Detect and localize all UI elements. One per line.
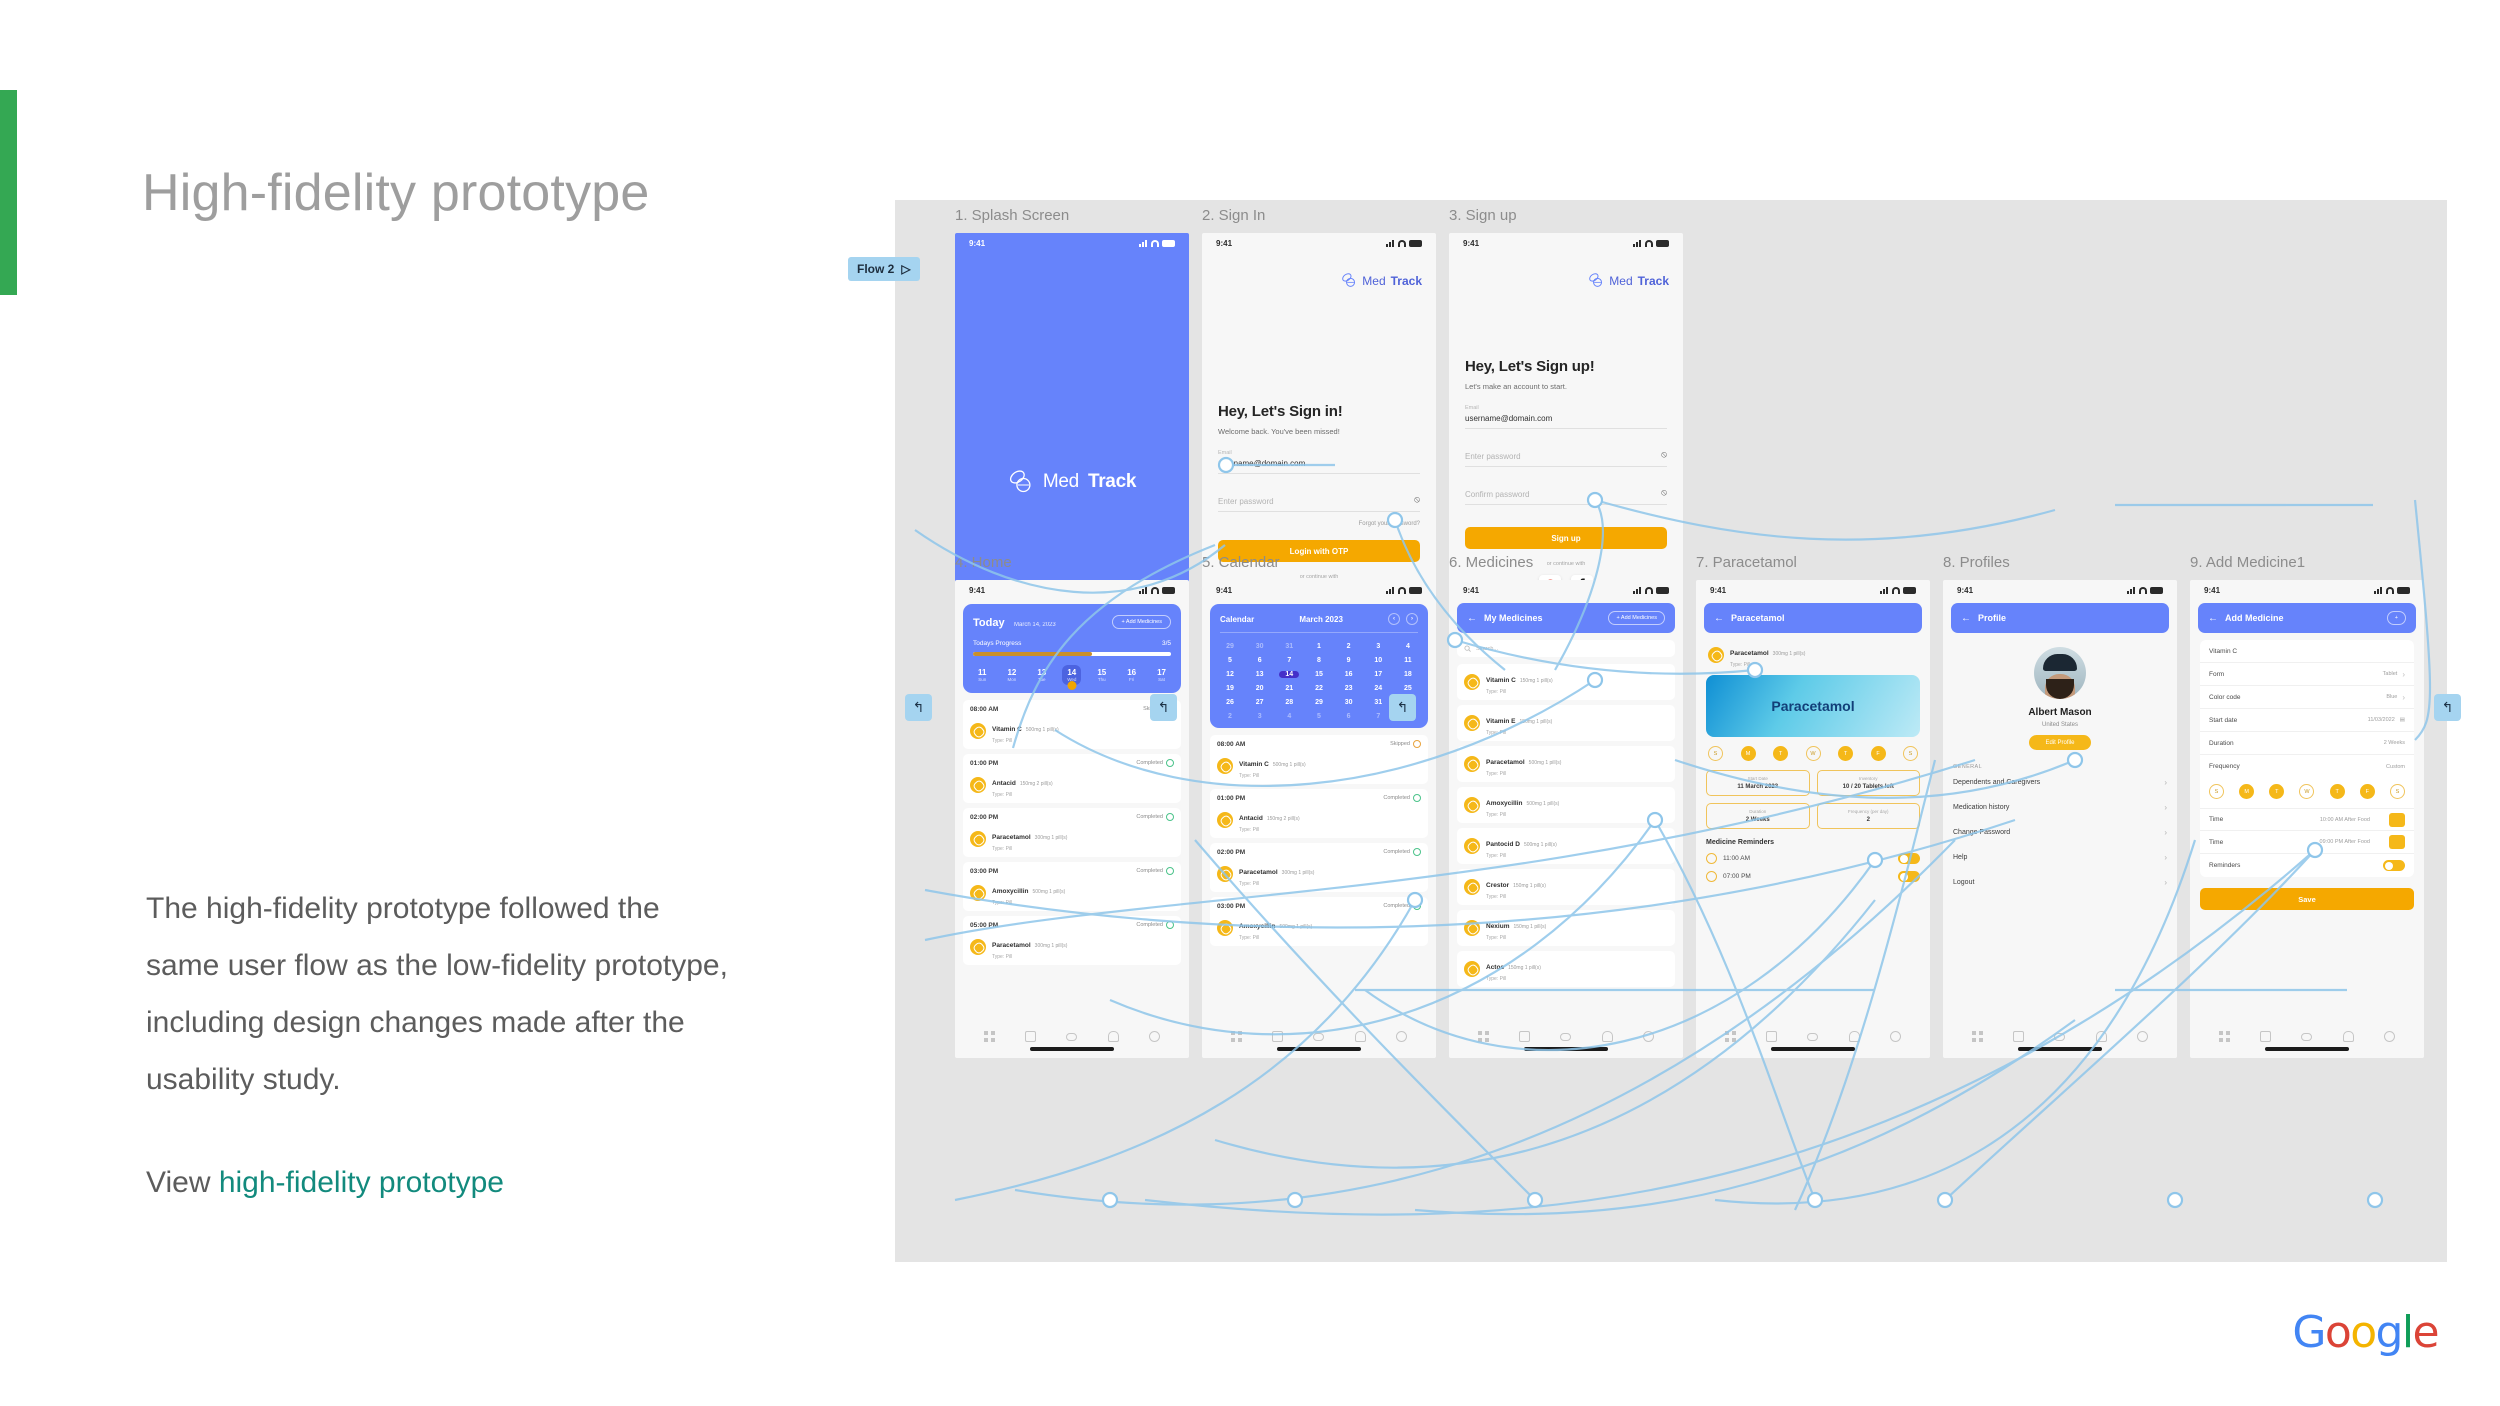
- med-type: Type: Pill: [992, 900, 1065, 906]
- list-item[interactable]: Nexium150mg 1 pill(s)Type: Pill: [1457, 910, 1675, 946]
- view-prefix: View: [146, 1166, 219, 1199]
- tab-profile-icon[interactable]: [2384, 1031, 2395, 1042]
- email-field[interactable]: Email username@domain.com: [1465, 405, 1667, 429]
- status-text: Completed: [1383, 849, 1410, 855]
- weekday-chip[interactable]: M: [1741, 746, 1756, 761]
- header-title: My Medicines: [1484, 613, 1543, 623]
- day-number: 13: [1037, 668, 1046, 677]
- signal-icon: [1880, 587, 1889, 594]
- med-name: Paracetamol: [992, 942, 1031, 949]
- calendar-day[interactable]: 21: [1279, 685, 1299, 692]
- tab-home-icon[interactable]: [1478, 1031, 1489, 1042]
- view-prototype-line: View high-fidelity prototype: [146, 1166, 504, 1200]
- calendar-day-selected[interactable]: 14: [1279, 671, 1299, 678]
- weekday-chip[interactable]: T: [2269, 784, 2284, 799]
- pill-icon: [970, 885, 986, 901]
- signal-icon: [1386, 587, 1395, 594]
- med-dose: 150mg 1 pill(s): [1508, 965, 1541, 971]
- status-icons: [1386, 587, 1422, 594]
- calendar-day[interactable]: 13: [1250, 671, 1270, 678]
- status-dot-icon: [1166, 867, 1174, 875]
- field-frequency[interactable]: FrequencyCustom: [2200, 755, 2414, 778]
- day-weekday: Fri: [1127, 677, 1136, 682]
- bottom-tab-bar[interactable]: [2190, 1031, 2424, 1042]
- auth-form[interactable]: Hey, Let's Sign up! Let's make an accoun…: [1465, 358, 1667, 613]
- signal-icon: [1386, 240, 1395, 247]
- forgot-password-link[interactable]: Forgot your password?: [1218, 521, 1420, 527]
- phone-frame[interactable]: 9:41 Today March 14, 2023: [955, 580, 1189, 1058]
- tab-profile-icon[interactable]: [1643, 1031, 1654, 1042]
- phone-frame[interactable]: 9:41 ← Add Medicine + Vitamin C: [2190, 580, 2424, 1058]
- status-icons: [2374, 587, 2410, 594]
- pill-icon: [970, 939, 986, 955]
- med-type: Type: Pill: [1239, 827, 1300, 833]
- back-arrow-badge-right[interactable]: ↰: [2434, 694, 2461, 721]
- high-fidelity-prototype-link[interactable]: high-fidelity prototype: [219, 1166, 504, 1199]
- wifi-icon: [1151, 587, 1159, 594]
- calendar-day[interactable]: 20: [1250, 685, 1270, 692]
- day-weekday: Tue: [1037, 677, 1046, 682]
- medication-schedule-list[interactable]: 08:00 AMSkipped Vitamin C500mg 1 pill(s)…: [1210, 735, 1428, 946]
- battery-icon: [1656, 587, 1669, 594]
- tab-home-icon[interactable]: [1725, 1031, 1736, 1042]
- menu-item-help[interactable]: Help›: [1953, 845, 2167, 870]
- day-cell-selected[interactable]: 14Wed: [1062, 665, 1081, 685]
- menu-item-logout[interactable]: Logout›: [1953, 870, 2167, 895]
- reminder-time: 07:00 PM: [1723, 873, 1751, 880]
- avatar: [2034, 647, 2086, 699]
- reminder-row[interactable]: 11:00 AM: [1706, 853, 1920, 864]
- tab-reminders-icon[interactable]: [1849, 1031, 1860, 1042]
- week-day-strip[interactable]: 11Sun 12Mon 13Tue 14Wed 15Thu 16Fri 17Sa…: [973, 665, 1171, 685]
- email-value[interactable]: username@domain.com: [1218, 456, 1420, 473]
- add-button[interactable]: +: [2387, 611, 2406, 625]
- status-badge: Completed: [1383, 848, 1421, 856]
- calendar-day[interactable]: 5: [1309, 713, 1329, 720]
- list-item[interactable]: 01:00 PMCompleted Antacid150mg 2 pill(s)…: [1210, 789, 1428, 838]
- weekday-chip[interactable]: S: [1708, 746, 1723, 761]
- back-icon[interactable]: ←: [1961, 613, 1971, 624]
- day-weekday: Sun: [978, 677, 986, 682]
- field-value: 2 Weeks: [2384, 740, 2405, 746]
- status-badge: Completed: [1383, 902, 1421, 910]
- med-type: Type: Pill: [1239, 881, 1314, 887]
- calendar-day[interactable]: 1: [1309, 643, 1329, 650]
- weekday-chip[interactable]: F: [2360, 784, 2375, 799]
- list-item[interactable]: 02:00 PMCompleted Paracetamol300mg 1 pil…: [963, 808, 1181, 857]
- calendar-day[interactable]: 15: [1309, 671, 1329, 678]
- medication-schedule-list[interactable]: 08:00 AMSkipped Vitamin C500mg 1 pill(s)…: [963, 700, 1181, 965]
- list-item[interactable]: Pantocid D500mg 1 pill(s)Type: Pill: [1457, 828, 1675, 864]
- bottom-tab-bar[interactable]: [1696, 1031, 1930, 1042]
- weekday-chip[interactable]: W: [1806, 746, 1821, 761]
- calendar-day[interactable]: 9: [1339, 657, 1359, 664]
- tab-medicines-icon[interactable]: [1560, 1033, 1571, 1041]
- status-dot-icon: [1166, 813, 1174, 821]
- tab-medicines-icon[interactable]: [2054, 1033, 2065, 1041]
- bottom-tab-bar[interactable]: [1943, 1031, 2177, 1042]
- info-key: Duration: [1711, 809, 1805, 814]
- calendar-icon[interactable]: ▤: [2400, 717, 2405, 723]
- calendar-header: Calendar March 2023 ‹ ›: [1220, 613, 1418, 633]
- med-name: Paracetamol: [1730, 650, 1769, 657]
- add-medicine-form[interactable]: Vitamin C FormTablet› Color codeBlue› St…: [2200, 640, 2414, 877]
- med-dose: 500mg 1 pill(s): [1526, 801, 1559, 807]
- calendar-week-row: 567891011: [1220, 657, 1418, 664]
- calendar-day[interactable]: 19: [1220, 685, 1240, 692]
- google-letter-o1: o: [2325, 1307, 2350, 1358]
- list-item[interactable]: 08:00 AMSkipped Vitamin C500mg 1 pill(s)…: [1210, 735, 1428, 784]
- med-dose: 300mg 1 pill(s): [1282, 870, 1315, 876]
- calendar-day[interactable]: 25: [1398, 685, 1418, 692]
- status-icons: [1386, 240, 1422, 247]
- eye-off-icon[interactable]: ⦸: [1661, 487, 1667, 498]
- clock-icon[interactable]: [2375, 838, 2384, 847]
- tab-calendar-icon[interactable]: [2013, 1031, 2024, 1042]
- calendar-day[interactable]: 16: [1339, 671, 1359, 678]
- tab-home-icon[interactable]: [2219, 1031, 2230, 1042]
- logo-track: Track: [1638, 274, 1669, 288]
- screen-medicines[interactable]: 6. Medicines 9:41 ← My Medicines + Add: [1449, 580, 1683, 1058]
- screen-label: 6. Medicines: [1449, 554, 1533, 571]
- password-field[interactable]: Enter password ⦸: [1218, 488, 1420, 512]
- list-item[interactable]: 05:00 PMCompleted Paracetamol300mg 1 pil…: [963, 916, 1181, 965]
- med-name: Antacid: [992, 780, 1016, 787]
- confirm-password-placeholder[interactable]: Confirm password: [1465, 481, 1667, 504]
- bottom-tab-bar[interactable]: [1449, 1031, 1683, 1042]
- weekday-chip[interactable]: F: [1871, 746, 1886, 761]
- list-item[interactable]: Paracetamol500mg 1 pill(s)Type: Pill: [1457, 746, 1675, 782]
- home-indicator: [1524, 1047, 1608, 1051]
- phone-frame[interactable]: 9:41 ← My Medicines + Add Medicines: [1449, 580, 1683, 1058]
- search-placeholder: Search...: [1476, 646, 1498, 652]
- tab-profile-icon[interactable]: [1890, 1031, 1901, 1042]
- calendar-day[interactable]: 5: [1220, 657, 1240, 664]
- field-time-1[interactable]: Time10:00 AM After Food: [2200, 808, 2414, 831]
- field-time-2[interactable]: Time09:00 PM After Food: [2200, 831, 2414, 854]
- screen-paracetamol-detail[interactable]: 7. Paracetamol 9:41 ← Paracetamol: [1696, 580, 1930, 1058]
- back-arrow-badge-2[interactable]: ↰: [1150, 694, 1177, 721]
- google-logo: Google: [2292, 1307, 2438, 1358]
- day-cell[interactable]: 16Fri: [1122, 665, 1141, 685]
- pill-icon: [1464, 961, 1480, 977]
- weekday-chip[interactable]: M: [2239, 784, 2254, 799]
- screen-calendar[interactable]: 5. Calendar 9:41 Calendar March 20: [1202, 580, 1436, 1058]
- info-box: Duration2 Weeks: [1706, 803, 1810, 829]
- med-name: Vitamin E: [1486, 718, 1516, 725]
- calendar-day[interactable]: 30: [1250, 643, 1270, 650]
- status-dot-icon: [1166, 921, 1174, 929]
- tab-calendar-icon[interactable]: [1025, 1031, 1036, 1042]
- med-name: Amoxycillin: [992, 888, 1028, 895]
- password-placeholder[interactable]: Enter password: [1218, 488, 1420, 511]
- calendar-day[interactable]: 30: [1339, 699, 1359, 706]
- back-icon[interactable]: ←: [1467, 613, 1477, 624]
- calendar-nav[interactable]: ‹ ›: [1388, 613, 1418, 625]
- status-text: Completed: [1136, 814, 1163, 820]
- status-bar: 9:41: [1449, 580, 1683, 600]
- home-indicator: [1771, 1047, 1855, 1051]
- email-field[interactable]: Email username@domain.com: [1218, 450, 1420, 474]
- eye-off-icon[interactable]: ⦸: [1661, 449, 1667, 460]
- day-cell[interactable]: 12Mon: [1002, 665, 1021, 685]
- tab-home-icon[interactable]: [984, 1031, 995, 1042]
- tab-home-icon[interactable]: [1231, 1031, 1242, 1042]
- list-item[interactable]: Crestor150mg 1 pill(s)Type: Pill: [1457, 869, 1675, 905]
- status-bar: 9:41: [2190, 580, 2424, 600]
- list-item[interactable]: 02:00 PMCompleted Paracetamol300mg 1 pil…: [1210, 843, 1428, 892]
- calendar-day[interactable]: 27: [1250, 699, 1270, 706]
- day-cell[interactable]: 17Sat: [1152, 665, 1171, 685]
- med-type: Type: Pill: [992, 738, 1059, 744]
- reminder-toggle[interactable]: [1898, 853, 1920, 864]
- calendar-day[interactable]: 6: [1339, 713, 1359, 720]
- med-name: Amoxycillin: [1239, 923, 1275, 930]
- field-start-date[interactable]: Start date11/03/2022▤: [2200, 709, 2414, 732]
- field-label: Time: [2209, 816, 2223, 823]
- weekday-chip[interactable]: S: [1903, 746, 1918, 761]
- password-placeholder[interactable]: Enter password: [1465, 443, 1667, 466]
- wifi-icon: [1398, 587, 1406, 594]
- confirm-password-field[interactable]: Confirm password ⦸: [1465, 481, 1667, 505]
- save-button[interactable]: Save: [2200, 888, 2414, 910]
- status-bar: 9:41: [1202, 580, 1436, 600]
- calendar-day[interactable]: 26: [1220, 699, 1240, 706]
- today-date: March 14, 2023: [1014, 622, 1056, 628]
- list-item[interactable]: 08:00 AMSkipped Vitamin C500mg 1 pill(s)…: [963, 700, 1181, 749]
- medicines-list[interactable]: Vitamin C150mg 1 pill(s)Type: Pill Vitam…: [1457, 664, 1675, 987]
- status-time: 9:41: [1957, 586, 1973, 595]
- bottom-tab-bar[interactable]: [955, 1031, 1189, 1042]
- wifi-icon: [1645, 587, 1653, 594]
- edit-profile-button[interactable]: Edit Profile: [2029, 735, 2091, 750]
- home-indicator: [2018, 1047, 2102, 1051]
- pill-icon: [970, 723, 986, 739]
- med-dose: 150mg 1 pill(s): [1513, 883, 1546, 889]
- med-type: Type: Pill: [1486, 812, 1559, 818]
- calendar-day[interactable]: 18: [1398, 671, 1418, 678]
- pill-icon: [1217, 866, 1233, 882]
- calendar-day[interactable]: 2: [1339, 643, 1359, 650]
- field-color-code[interactable]: Color codeBlue›: [2200, 686, 2414, 709]
- pill-icon: [1464, 715, 1480, 731]
- tab-home-icon[interactable]: [1972, 1031, 1983, 1042]
- field-reminders[interactable]: Reminders: [2200, 854, 2414, 877]
- info-value: 2 Weeks: [1711, 817, 1805, 823]
- tab-reminders-icon[interactable]: [2096, 1031, 2107, 1042]
- weekday-chip[interactable]: T: [1838, 746, 1853, 761]
- menu-label: Change Password: [1953, 829, 2010, 836]
- pill-icon: [1217, 812, 1233, 828]
- tab-calendar-icon[interactable]: [2260, 1031, 2271, 1042]
- day-cell[interactable]: 13Tue: [1032, 665, 1051, 685]
- med-name: Paracetamol: [1239, 869, 1278, 876]
- tab-reminders-icon[interactable]: [1602, 1031, 1613, 1042]
- calendar-day[interactable]: 3: [1368, 643, 1388, 650]
- pill-logo-icon: [1008, 470, 1034, 494]
- tab-reminders-icon[interactable]: [1108, 1031, 1119, 1042]
- tab-medicines-icon[interactable]: [1313, 1033, 1324, 1041]
- weekday-selector[interactable]: S M T W T F S: [1708, 746, 1918, 761]
- back-arrow-badge-3[interactable]: ↰: [1389, 694, 1416, 721]
- field-duration[interactable]: Duration2 Weeks: [2200, 732, 2414, 755]
- day-cell[interactable]: 15Thu: [1092, 665, 1111, 685]
- pill-icon: [1464, 920, 1480, 936]
- next-month-icon[interactable]: ›: [1406, 613, 1418, 625]
- tab-profile-icon[interactable]: [1149, 1031, 1160, 1042]
- screen-add-medicine[interactable]: 9. Add Medicine1 9:41 ← Add Medicine +: [2190, 580, 2424, 1058]
- edit-time-button[interactable]: [2389, 835, 2405, 849]
- weekday-chip[interactable]: S: [2209, 784, 2224, 799]
- bottom-tab-bar[interactable]: [1202, 1031, 1436, 1042]
- calendar-day[interactable]: 23: [1339, 685, 1359, 692]
- calendar-day[interactable]: 2: [1220, 713, 1240, 720]
- field-name[interactable]: Vitamin C: [2200, 640, 2414, 663]
- field-value: 09:00 PM After Food: [2320, 839, 2370, 845]
- flow-2-badge[interactable]: Flow 2 ▷: [848, 257, 920, 281]
- info-value: 11 March 2023: [1711, 784, 1805, 790]
- calendar-day[interactable]: 12: [1220, 671, 1240, 678]
- list-item[interactable]: Vitamin E150mg 1 pill(s)Type: Pill: [1457, 705, 1675, 741]
- tab-profile-icon[interactable]: [1396, 1031, 1407, 1042]
- tab-medicines-icon[interactable]: [2301, 1033, 2312, 1041]
- tab-calendar-icon[interactable]: [1766, 1031, 1777, 1042]
- chevron-right-icon: ›: [2402, 670, 2405, 679]
- list-item[interactable]: 01:00 PMCompleted Antacid150mg 2 pill(s)…: [963, 754, 1181, 803]
- menu-label: Medication history: [1953, 804, 2009, 811]
- weekday-chip[interactable]: T: [2330, 784, 2345, 799]
- list-item[interactable]: 03:00 PMCompleted Amoxycillin500mg 1 pil…: [963, 862, 1181, 911]
- list-item[interactable]: Actos150mg 1 pill(s)Type: Pill: [1457, 951, 1675, 987]
- reminder-row[interactable]: 07:00 PM: [1706, 871, 1920, 882]
- phone-frame[interactable]: 9:41 Calendar March 2023 ‹: [1202, 580, 1436, 1058]
- google-letter-l: l: [2402, 1307, 2413, 1358]
- flow-2-label: Flow 2: [857, 262, 894, 276]
- weekday-selector[interactable]: S M T W T F S: [2200, 778, 2414, 808]
- med-dose: 500mg 1 pill(s): [1273, 762, 1306, 768]
- prototype-canvas[interactable]: Flow 2 ▷ ↰ ↰ ↰ ↰ 1. Splash Screen 9:41: [895, 200, 2447, 1262]
- menu-label: Dependents and Caregivers: [1953, 779, 2040, 786]
- day-weekday: Mon: [1007, 677, 1016, 682]
- calendar-day[interactable]: 7: [1368, 713, 1388, 720]
- play-icon[interactable]: ▷: [901, 262, 910, 276]
- field-underline: [1218, 511, 1420, 512]
- calendar-day[interactable]: 7: [1279, 657, 1299, 664]
- list-item[interactable]: Amoxycillin500mg 1 pill(s)Type: Pill: [1457, 787, 1675, 823]
- wifi-icon: [1645, 240, 1653, 247]
- calendar-day[interactable]: 17: [1368, 671, 1388, 678]
- day-number: 11: [978, 668, 986, 677]
- tab-calendar-icon[interactable]: [1519, 1031, 1530, 1042]
- tab-profile-icon[interactable]: [2137, 1031, 2148, 1042]
- add-medicines-button[interactable]: + Add Medicines: [1112, 615, 1171, 629]
- add-medicines-button[interactable]: + Add Medicines: [1608, 611, 1665, 625]
- calendar-day[interactable]: 29: [1220, 643, 1240, 650]
- calendar-week-row: 19202122232425: [1220, 685, 1418, 692]
- profile-country: United States: [1943, 722, 2177, 728]
- screen-profile[interactable]: 8. Profiles 9:41 ← Profile: [1943, 580, 2177, 1058]
- tab-reminders-icon[interactable]: [1355, 1031, 1366, 1042]
- menu-item-medication-history[interactable]: Medication history›: [1953, 795, 2167, 820]
- tab-medicines-icon[interactable]: [1807, 1033, 1818, 1041]
- phone-frame[interactable]: 9:41 ← Profile Albert Mason: [1943, 580, 2177, 1058]
- med-type: Type: Pill: [1239, 773, 1306, 779]
- password-field[interactable]: Enter password ⦸: [1465, 443, 1667, 467]
- calendar-day[interactable]: 31: [1279, 643, 1299, 650]
- home-indicator: [1030, 1047, 1114, 1051]
- tab-reminders-icon[interactable]: [2343, 1031, 2354, 1042]
- calendar-day[interactable]: 22: [1309, 685, 1329, 692]
- list-item[interactable]: Vitamin C150mg 1 pill(s)Type: Pill: [1457, 664, 1675, 700]
- header-title: Add Medicine: [2225, 613, 2284, 623]
- calendar-day[interactable]: 3: [1250, 713, 1270, 720]
- back-arrow-badge-1[interactable]: ↰: [905, 694, 932, 721]
- profile-header: ← Profile: [1951, 603, 2169, 633]
- calendar-day[interactable]: 8: [1309, 657, 1329, 664]
- day-cell[interactable]: 11Sun: [973, 665, 991, 685]
- reminder-time: 11:00 AM: [1723, 855, 1750, 862]
- eye-off-icon[interactable]: ⦸: [1414, 494, 1420, 505]
- prev-month-icon[interactable]: ‹: [1388, 613, 1400, 625]
- field-value: Tablet: [2383, 671, 2398, 677]
- info-box: Inventory10 / 20 Tablets left: [1817, 770, 1921, 796]
- pill-icon: [1464, 879, 1480, 895]
- back-icon[interactable]: ←: [2208, 613, 2218, 624]
- menu-item-change-password[interactable]: Change Password›: [1953, 820, 2167, 845]
- phone-frame[interactable]: 9:41 ← Paracetamol Paracetamol300mg: [1696, 580, 1930, 1058]
- calendar-day[interactable]: 4: [1279, 713, 1299, 720]
- med-time: 01:00 PM: [970, 760, 998, 767]
- med-name: Vitamin C: [1239, 761, 1269, 768]
- email-value[interactable]: username@domain.com: [1465, 411, 1667, 428]
- weekday-chip[interactable]: T: [1773, 746, 1788, 761]
- weekday-chip[interactable]: W: [2299, 784, 2314, 799]
- tab-calendar-icon[interactable]: [1272, 1031, 1283, 1042]
- menu-item-dependents[interactable]: Dependents and Caregivers›: [1953, 770, 2167, 795]
- tab-medicines-icon[interactable]: [1066, 1033, 1077, 1041]
- field-form[interactable]: FormTablet›: [2200, 663, 2414, 686]
- calendar-day[interactable]: 10: [1368, 657, 1388, 664]
- back-icon[interactable]: ←: [1714, 613, 1724, 624]
- status-icons: [2127, 587, 2163, 594]
- field-value: 11/03/2022: [2368, 717, 2395, 723]
- calendar-day[interactable]: 4: [1398, 643, 1418, 650]
- wifi-icon: [1398, 240, 1406, 247]
- calendar-day[interactable]: 24: [1368, 685, 1388, 692]
- med-type: Type: Pill: [1486, 730, 1552, 736]
- calendar-day[interactable]: 6: [1250, 657, 1270, 664]
- clock-icon[interactable]: [2375, 815, 2384, 824]
- calendar-day[interactable]: 29: [1309, 699, 1329, 706]
- status-bar: 9:41: [1943, 580, 2177, 600]
- reminder-toggle[interactable]: [1898, 871, 1920, 882]
- reminders-toggle[interactable]: [2383, 860, 2405, 871]
- signal-icon: [1139, 240, 1148, 247]
- logo-track: Track: [1088, 471, 1136, 493]
- field-underline: [1465, 428, 1667, 429]
- edit-time-button[interactable]: [2389, 813, 2405, 827]
- google-letter-o2: o: [2350, 1307, 2375, 1358]
- signup-button[interactable]: Sign up: [1465, 527, 1667, 549]
- weekday-chip[interactable]: S: [2390, 784, 2405, 799]
- screen-home[interactable]: 4. Home 9:41 Today: [955, 580, 1189, 1058]
- list-item[interactable]: 03:00 PMCompleted Amoxycillin500mg 1 pil…: [1210, 897, 1428, 946]
- med-name: Antacid: [1239, 815, 1263, 822]
- calendar-day[interactable]: 31: [1368, 699, 1388, 706]
- calendar-day[interactable]: 11: [1398, 657, 1418, 664]
- search-input[interactable]: Search...: [1457, 640, 1675, 657]
- calendar-day[interactable]: 28: [1279, 699, 1299, 706]
